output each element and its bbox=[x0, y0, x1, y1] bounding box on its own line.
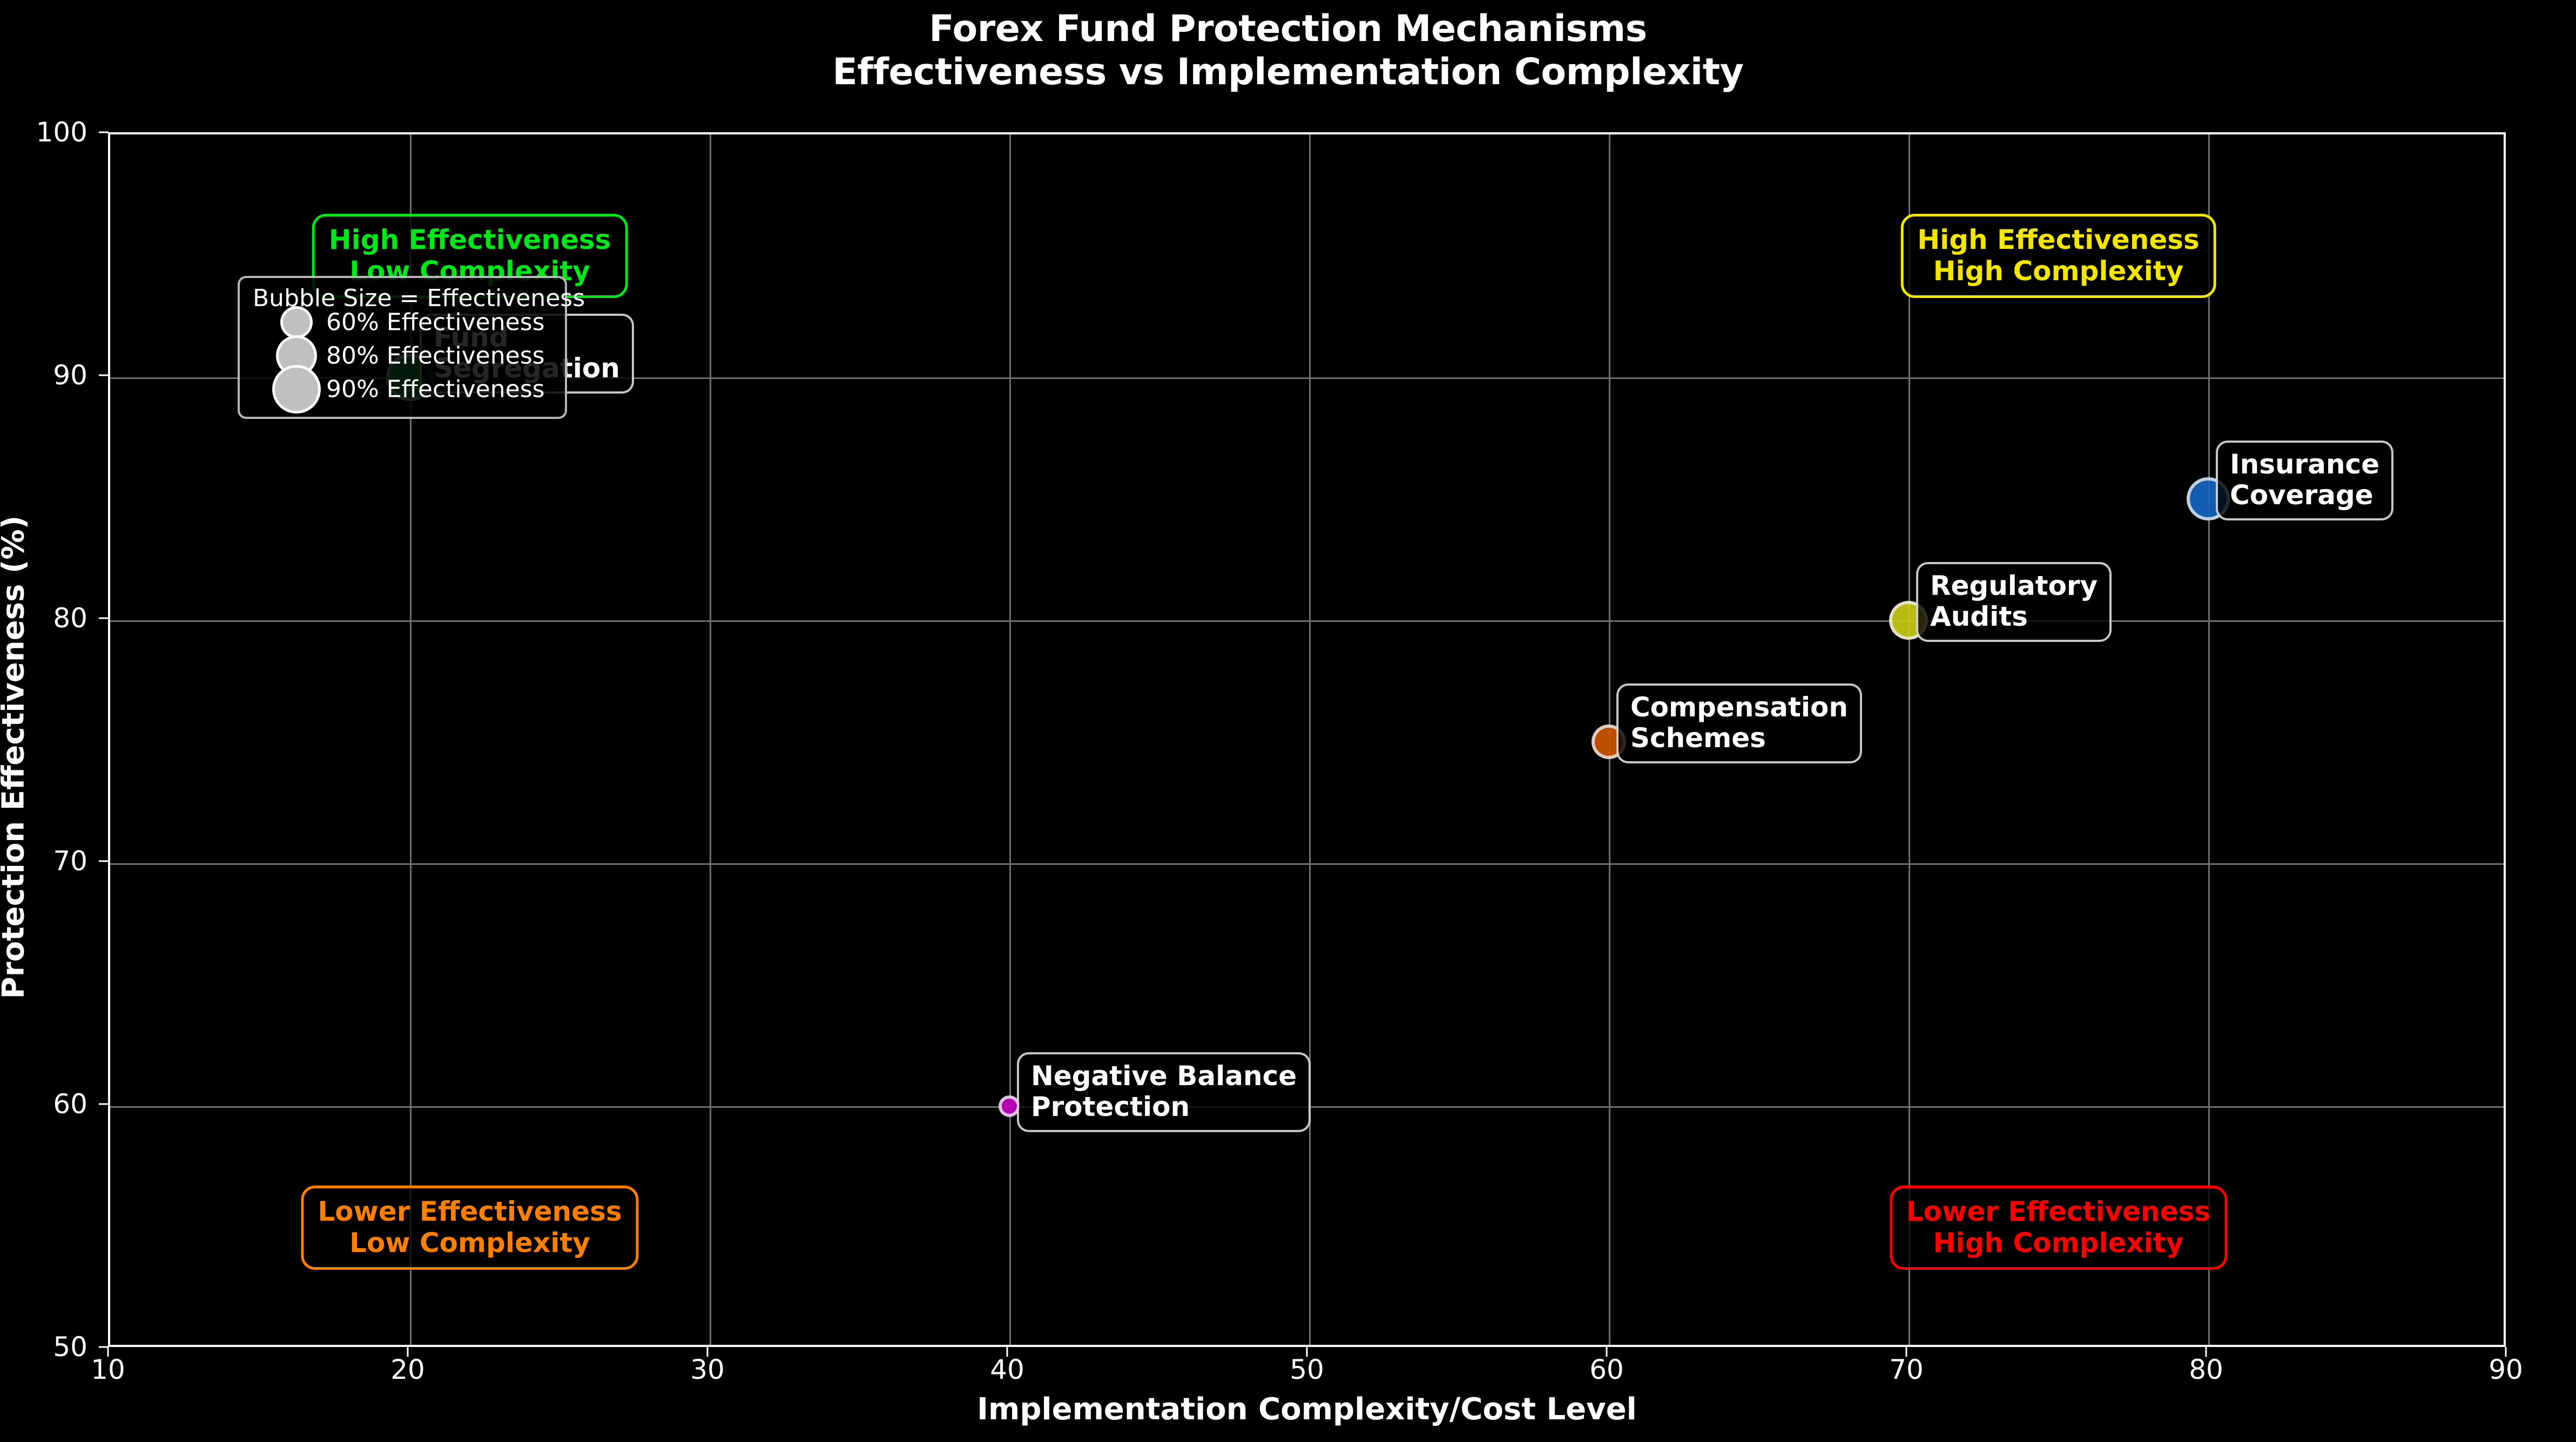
x-axis-tick-label: 10 bbox=[91, 1354, 125, 1385]
quadrant-annotation-lower-effectiveness-low-complexity: Lower EffectivenessLow Complexity bbox=[301, 1186, 638, 1270]
data-point-label-line-2: Protection bbox=[1031, 1092, 1297, 1122]
gridline-horizontal bbox=[110, 620, 2504, 622]
legend-entry-label: 80% Effectiveness bbox=[326, 342, 545, 370]
gridline-vertical bbox=[1909, 134, 1910, 1345]
x-axis-tick-label: 80 bbox=[2189, 1354, 2223, 1385]
y-axis-tick-label: 60 bbox=[53, 1088, 87, 1120]
data-point-label-line-1: Negative Balance bbox=[1031, 1061, 1297, 1092]
x-axis-tick-mark bbox=[1606, 1347, 1608, 1357]
legend-entry-label: 60% Effectiveness bbox=[326, 309, 545, 336]
legend-entry-label: 90% Effectiveness bbox=[326, 376, 545, 403]
x-axis-tick-mark bbox=[407, 1347, 409, 1357]
plot-area: FundSegregationNegative BalanceProtectio… bbox=[108, 132, 2506, 1347]
x-axis-tick-label: 60 bbox=[1589, 1354, 1624, 1385]
legend-row: 90% Effectiveness bbox=[240, 373, 565, 406]
y-axis-tick-mark bbox=[99, 1346, 109, 1348]
annotation-line-2: High Complexity bbox=[1906, 1227, 2210, 1258]
y-axis-tick-label: 50 bbox=[53, 1331, 87, 1363]
y-axis-tick-mark bbox=[99, 1103, 109, 1105]
legend-row: 60% Effectiveness bbox=[240, 306, 565, 339]
annotation-line-1: High Effectiveness bbox=[1917, 224, 2200, 255]
annotation-line-2: High Complexity bbox=[1917, 255, 2200, 287]
y-axis-tick-mark bbox=[99, 861, 109, 862]
x-axis-tick-mark bbox=[1906, 1347, 1907, 1357]
bubble-size-legend[interactable]: Bubble Size = Effectiveness 60% Effectiv… bbox=[238, 276, 567, 419]
x-axis-tick-mark bbox=[707, 1347, 709, 1357]
quadrant-annotation-high-effectiveness-high-complexity: High EffectivenessHigh Complexity bbox=[1900, 214, 2216, 298]
data-point-label-line-1: Compensation bbox=[1630, 692, 1848, 723]
gridline-vertical bbox=[710, 134, 711, 1345]
x-axis-tick-mark bbox=[2206, 1347, 2207, 1357]
title-line-2: Effectiveness vs Implementation Complexi… bbox=[0, 51, 2576, 94]
gridline-horizontal bbox=[110, 863, 2504, 865]
data-point-label-line-1: Insurance bbox=[2230, 449, 2379, 480]
y-axis-tick-label: 70 bbox=[53, 845, 87, 877]
x-axis-tick-label: 30 bbox=[690, 1354, 725, 1385]
annotation-line-1: High Effectiveness bbox=[329, 224, 611, 255]
y-axis-tick-label: 90 bbox=[53, 360, 87, 391]
data-point-label-line-2: Schemes bbox=[1630, 723, 1848, 754]
data-point-label: CompensationSchemes bbox=[1616, 683, 1862, 763]
x-axis-tick-label: 20 bbox=[390, 1354, 425, 1385]
title-line-1: Forex Fund Protection Mechanisms bbox=[0, 8, 2576, 51]
x-axis-tick-label: 70 bbox=[1889, 1354, 1924, 1385]
y-axis-tick-mark bbox=[99, 375, 109, 376]
page-title: Forex Fund Protection Mechanisms Effecti… bbox=[0, 8, 2576, 93]
legend-bubble-swatch bbox=[272, 365, 321, 414]
data-point-label: Negative BalanceProtection bbox=[1017, 1052, 1311, 1132]
data-point-label: RegulatoryAudits bbox=[1916, 562, 2112, 642]
annotation-line-1: Lower Effectiveness bbox=[1906, 1196, 2210, 1227]
y-axis-tick-label: 80 bbox=[53, 602, 87, 634]
gridline-vertical bbox=[2208, 134, 2210, 1345]
quadrant-annotation-lower-effectiveness-high-complexity: Lower EffectivenessHigh Complexity bbox=[1890, 1186, 2227, 1270]
x-axis-tick-mark bbox=[107, 1347, 109, 1357]
data-point-label-line-2: Audits bbox=[1930, 601, 2098, 632]
x-axis-tick-mark bbox=[1007, 1347, 1008, 1357]
x-axis-tick-label: 90 bbox=[2489, 1354, 2523, 1385]
data-point-label-line-2: Coverage bbox=[2230, 480, 2379, 511]
gridline-vertical bbox=[1309, 134, 1311, 1345]
x-axis-label: Implementation Complexity/Cost Level bbox=[108, 1392, 2506, 1427]
y-axis-tick-label: 100 bbox=[36, 117, 87, 148]
annotation-line-1: Lower Effectiveness bbox=[318, 1196, 622, 1227]
data-point-label: InsuranceCoverage bbox=[2216, 441, 2393, 520]
annotation-line-2: Low Complexity bbox=[318, 1227, 622, 1258]
data-point-label-line-1: Regulatory bbox=[1930, 571, 2098, 601]
x-axis-tick-label: 50 bbox=[1290, 1354, 1324, 1385]
x-axis-tick-label: 40 bbox=[990, 1354, 1024, 1385]
y-axis-tick-mark bbox=[99, 132, 109, 133]
y-axis-tick-mark bbox=[99, 618, 109, 619]
y-axis-label: Protection Effectiveness (%) bbox=[0, 150, 31, 1365]
x-axis-tick-mark bbox=[2505, 1347, 2507, 1357]
legend-bubble-swatch bbox=[280, 306, 313, 339]
x-axis-tick-mark bbox=[1306, 1347, 1308, 1357]
gridline-vertical bbox=[1009, 134, 1011, 1345]
